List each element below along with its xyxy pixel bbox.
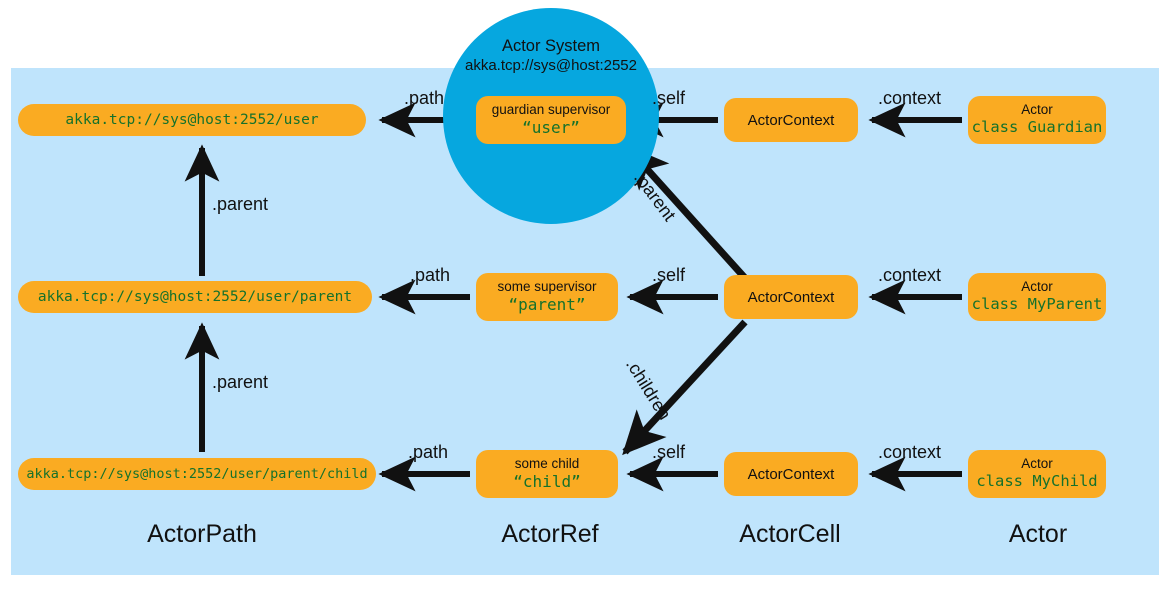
actorref-box-child[interactable]: some child “child” (476, 450, 618, 498)
actor-title-mychild: Actor (1021, 456, 1053, 472)
column-label-actorpath: ActorPath (92, 520, 312, 549)
edge-label-path-parent: .path (410, 265, 450, 286)
column-label-actorcell: ActorCell (680, 520, 900, 549)
actorref-value-child: “child” (513, 472, 580, 492)
actorcell-box-parent[interactable]: ActorContext (724, 275, 858, 319)
edge-label-self-parent: .self (652, 265, 685, 286)
edge-label-context-parent: .context (878, 265, 941, 286)
actorpath-box-parent[interactable]: akka.tcp://sys@host:2552/user/parent (18, 281, 372, 313)
actor-title-guardian: Actor (1021, 102, 1053, 118)
actorref-title-child: some child (515, 456, 580, 472)
actorpath-text-parent: akka.tcp://sys@host:2552/user/parent (38, 289, 352, 305)
actorref-box-user[interactable]: guardian supervisor “user” (476, 96, 626, 144)
edge-label-path-child: .path (408, 442, 448, 463)
actor-box-mychild[interactable]: Actor class MyChild (968, 450, 1106, 498)
actor-code-myparent: class MyParent (972, 295, 1103, 314)
actorpath-box-user[interactable]: akka.tcp://sys@host:2552/user (18, 104, 366, 136)
actorpath-box-child[interactable]: akka.tcp://sys@host:2552/user/parent/chi… (18, 458, 376, 490)
actor-system-title-line1: Actor System (443, 36, 659, 57)
actorpath-text-user: akka.tcp://sys@host:2552/user (65, 112, 318, 128)
edge-label-self-user: .self (652, 88, 685, 109)
actor-box-myparent[interactable]: Actor class MyParent (968, 273, 1106, 321)
actorcell-box-child[interactable]: ActorContext (724, 452, 858, 496)
edge-label-self-child: .self (652, 442, 685, 463)
column-label-actorref: ActorRef (440, 520, 660, 549)
actorref-title-parent: some supervisor (497, 279, 596, 295)
actorref-value-user: “user” (522, 118, 580, 138)
actorref-title-user: guardian supervisor (492, 102, 611, 118)
actorref-value-parent: “parent” (508, 295, 585, 315)
edge-label-context-child: .context (878, 442, 941, 463)
actor-code-guardian: class Guardian (972, 118, 1103, 137)
edge-label-parent-up-2: .parent (212, 372, 268, 393)
actorpath-text-child: akka.tcp://sys@host:2552/user/parent/chi… (26, 466, 367, 482)
actor-code-mychild: class MyChild (976, 472, 1097, 491)
actorcell-label-guardian: ActorContext (748, 112, 835, 129)
column-label-actor: Actor (928, 520, 1148, 549)
edge-label-context-guardian: .context (878, 88, 941, 109)
edge-label-path-user: .path (404, 88, 444, 109)
actor-title-myparent: Actor (1021, 279, 1053, 295)
diagram-canvas: Actor System akka.tcp://sys@host:2552 ak… (0, 0, 1170, 589)
actor-system-title: Actor System akka.tcp://sys@host:2552 (443, 36, 659, 75)
actorcell-box-guardian[interactable]: ActorContext (724, 98, 858, 142)
actorcell-label-child: ActorContext (748, 466, 835, 483)
actorref-box-parent[interactable]: some supervisor “parent” (476, 273, 618, 321)
actorcell-label-parent: ActorContext (748, 289, 835, 306)
edge-label-parent-up-1: .parent (212, 194, 268, 215)
actor-box-guardian[interactable]: Actor class Guardian (968, 96, 1106, 144)
actor-system-title-line2: akka.tcp://sys@host:2552 (443, 57, 659, 76)
